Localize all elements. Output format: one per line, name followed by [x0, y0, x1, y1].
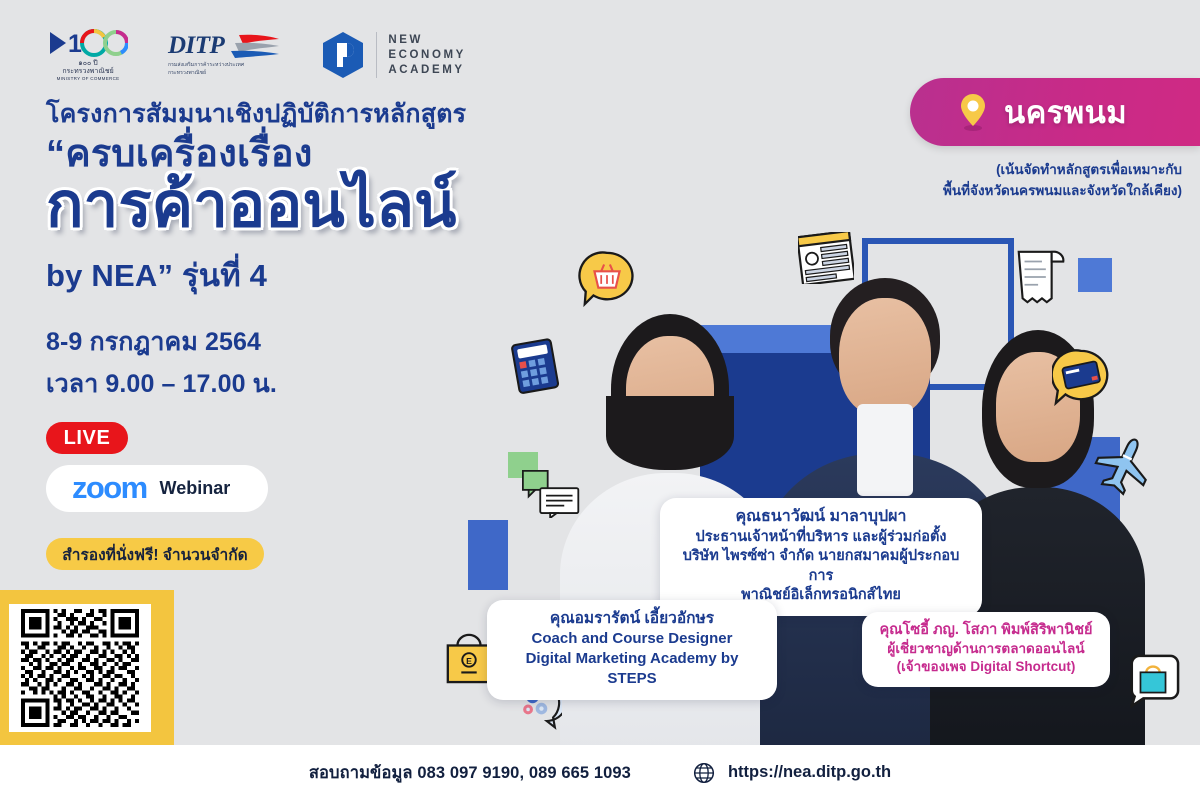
- zoom-wordmark: zoom: [72, 472, 147, 503]
- zoom-webinar-label: Webinar: [160, 478, 231, 499]
- anniversary-caption-1: ๑๐๐ ปี: [57, 60, 120, 68]
- nea-line-2: ECONOMY: [388, 49, 466, 61]
- speaker-left-name: คุณอมรารัตน์ เอี้ยวอักษร: [503, 609, 761, 629]
- ministry-100-years-logo: 1 ๑๐๐ ปี กระทรวงพาณิชย์ MINISTRY OF COMM…: [48, 28, 128, 81]
- location-note: (เน้นจัดทำหลักสูตรเพื่อเหมาะกับ พื้นที่จ…: [782, 160, 1182, 202]
- website-url[interactable]: https://nea.ditp.go.th: [728, 763, 891, 782]
- svg-text:E: E: [466, 656, 472, 666]
- ditp-sub-line-2: กระทรวงพาณิชย์: [168, 70, 266, 78]
- calculator-icon: [508, 338, 564, 394]
- event-time: เวลา 9.00 – 17.00 น.: [46, 364, 466, 404]
- shopping-bag-cyan-bubble-icon: [1126, 654, 1180, 708]
- logo-row: 1 ๑๐๐ ปี กระทรวงพาณิชย์ MINISTRY OF COMM…: [48, 28, 466, 81]
- live-badge: LIVE: [46, 422, 128, 454]
- ditp-sub-line-1: กรมส่งเสริมการค้าระหว่างประเทศ: [168, 62, 266, 70]
- speaker-right-role-2: (เจ้าของเพจ Digital Shortcut): [878, 658, 1094, 676]
- airplane-icon: [1094, 436, 1156, 498]
- nea-line-3: ACADEMY: [388, 64, 466, 76]
- speaker-center-role-2: บริษัท ไพรซ์ซ่า จำกัด นายกสมาคมผู้ประกอบ…: [676, 547, 966, 586]
- ditp-wordmark: DITP: [168, 32, 224, 60]
- headline-overline: โครงการสัมมนาเชิงปฏิบัติการหลักสูตร: [46, 100, 466, 129]
- headline-title: การค้าออนไลน์: [46, 173, 466, 238]
- headline-block: โครงการสัมมนาเชิงปฏิบัติการหลักสูตร “ครบ…: [46, 100, 466, 570]
- speaker-left-role-1: Coach and Course Designer: [503, 629, 761, 649]
- ditp-swoosh-icon: [229, 33, 281, 59]
- credit-card-bubble-icon: [1052, 348, 1110, 406]
- location-note-line-2: พื้นที่จังหวัดนครพนมและจังหวัดใกล้เคียง): [782, 181, 1182, 202]
- seminar-poster: 1 ๑๐๐ ปี กระทรวงพาณิชย์ MINISTRY OF COMM…: [0, 0, 1200, 800]
- chat-bubble-icon: [522, 470, 580, 518]
- map-pin-icon: [958, 92, 988, 132]
- svg-text:1: 1: [68, 30, 82, 58]
- qr-code-frame: [9, 604, 151, 732]
- ditp-logo: DITP กรมส่งเสริมการค้าระหว่างประเทศ กระท…: [168, 32, 281, 77]
- bg-rect-light-left: [468, 520, 508, 590]
- location-badge: นครพนม: [910, 78, 1200, 146]
- event-date: 8-9 กรกฎาคม 2564: [46, 322, 466, 362]
- nea-logo: NEW ECONOMY ACADEMY: [321, 31, 466, 79]
- anniversary-100-icon: 1: [48, 28, 128, 58]
- free-seats-badge: สำรองที่นั่งฟรี! จำนวนจำกัด: [46, 538, 264, 570]
- speaker-card-left: คุณอมรารัตน์ เอี้ยวอักษร Coach and Cours…: [487, 600, 777, 700]
- registration-qr-code[interactable]: [21, 609, 139, 727]
- contact-phone: สอบถามข้อมูล 083 097 9190, 089 665 1093: [309, 760, 631, 786]
- speaker-right-role-1: ผู้เชี่ยวชาญด้านการตลาดออนไลน์: [878, 640, 1094, 658]
- headline-byline: by NEA” รุ่นที่ 4: [46, 250, 466, 300]
- headline-quote: “ครบเครื่องเรื่อง: [46, 133, 466, 176]
- newspaper-icon: [798, 232, 854, 284]
- speaker-center-role-1: ประธานเจ้าหน้าที่บริหาร และผู้ร่วมก่อตั้…: [676, 528, 966, 547]
- speaker-center-name: คุณธนาวัฒน์ มาลาบุปผา: [676, 507, 966, 528]
- website-block: https://nea.ditp.go.th: [693, 762, 891, 784]
- zoom-webinar-badge: zoom Webinar: [46, 465, 268, 512]
- location-name: นครพนม: [1004, 87, 1127, 137]
- anniversary-caption-3: MINISTRY OF COMMERCE: [57, 76, 120, 81]
- globe-icon: [693, 762, 715, 784]
- anniversary-caption-2: กระทรวงพาณิชย์: [57, 68, 120, 76]
- location-note-line-1: (เน้นจัดทำหลักสูตรเพื่อเหมาะกับ: [782, 160, 1182, 181]
- footer-bar: สอบถามข้อมูล 083 097 9190, 089 665 1093 …: [0, 745, 1200, 800]
- speaker-right-name: คุณโซอี้ ภญ. โสภา พิมพ์สิริพานิชย์: [878, 621, 1094, 640]
- nea-hexagon-icon: [321, 31, 365, 79]
- shopping-basket-bubble-icon: [578, 250, 636, 308]
- receipt-icon: [1012, 248, 1070, 308]
- nea-line-1: NEW: [388, 34, 466, 46]
- speaker-card-center: คุณธนาวัฒน์ มาลาบุปผา ประธานเจ้าหน้าที่บ…: [660, 498, 982, 616]
- speaker-card-right: คุณโซอี้ ภญ. โสภา พิมพ์สิริพานิชย์ ผู้เช…: [862, 612, 1110, 687]
- speaker-left-role-2: Digital Marketing Academy by STEPS: [503, 649, 761, 689]
- bg-square-small: [1078, 258, 1112, 292]
- qr-panel: [0, 590, 174, 745]
